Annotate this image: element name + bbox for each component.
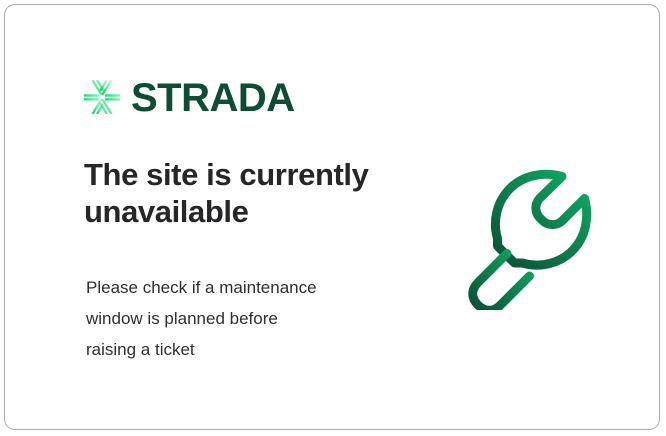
status-card: STRADA The site is currently unavailable… — [4, 4, 660, 430]
wrench-icon — [466, 168, 608, 310]
page-title: The site is currently unavailable — [84, 157, 414, 230]
asterisk-star-icon — [83, 78, 121, 116]
brand-lockup: STRADA — [83, 77, 295, 117]
description-line-1: Please check if a maintenance — [86, 273, 391, 304]
description-line-2: window is planned before — [86, 304, 391, 335]
description-line-3: raising a ticket — [86, 335, 391, 366]
page-description: Please check if a maintenance window is … — [86, 273, 391, 366]
error-page: STRADA The site is currently unavailable… — [0, 0, 666, 436]
brand-wordmark: STRADA — [131, 78, 295, 118]
